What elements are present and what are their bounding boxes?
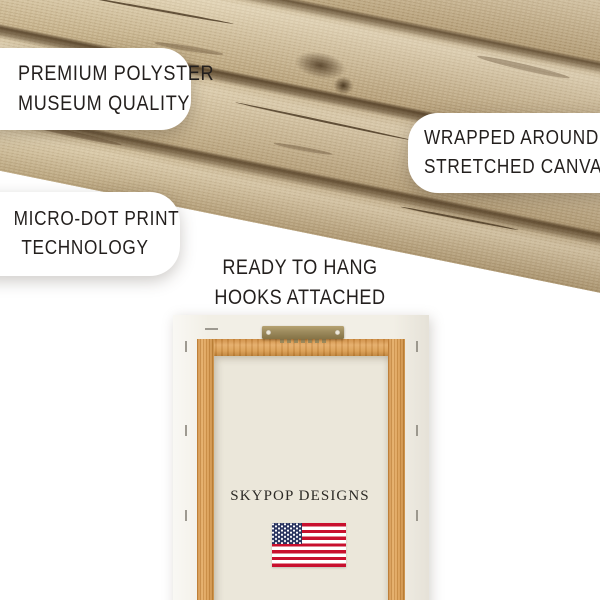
stretcher-bar-left bbox=[197, 339, 214, 600]
wood-vein bbox=[477, 53, 571, 80]
staple bbox=[205, 328, 218, 330]
flag-canton bbox=[272, 523, 302, 544]
badge-wrapped-around: WRAPPED AROUND STRETCHED CANVAS bbox=[408, 113, 600, 193]
product-infographic: PREMIUM POLYSTER MUSEUM QUALITY WRAPPED … bbox=[0, 0, 600, 600]
staple bbox=[185, 510, 187, 521]
wood-crack bbox=[86, 0, 234, 25]
usa-flag bbox=[272, 523, 346, 567]
hanger-screw-hole bbox=[266, 330, 271, 335]
badge-premium-polyster: PREMIUM POLYSTER MUSEUM QUALITY bbox=[0, 48, 191, 130]
badge-microdot-line1: MICRO-DOT PRINT bbox=[14, 205, 157, 234]
wood-crack bbox=[400, 206, 518, 231]
badge-premium-line2: MUSEUM QUALITY bbox=[18, 89, 165, 119]
staple bbox=[416, 425, 418, 436]
staple bbox=[416, 510, 418, 521]
stretcher-bar-right bbox=[388, 339, 405, 600]
badge-premium-line1: PREMIUM POLYSTER bbox=[18, 59, 165, 89]
wood-vein bbox=[273, 142, 333, 157]
headline-ready-to-hang: READY TO HANG HOOKS ATTACHED bbox=[0, 253, 600, 313]
staple bbox=[185, 341, 187, 352]
sawtooth-hanger bbox=[262, 326, 344, 339]
wood-crack bbox=[235, 101, 411, 141]
staple bbox=[185, 425, 187, 436]
flag-stars bbox=[272, 523, 302, 544]
brand-name: SKYPOP DESIGNS bbox=[0, 488, 600, 505]
hanger-screw-hole bbox=[335, 330, 340, 335]
hanger-plate bbox=[262, 326, 344, 339]
staple bbox=[416, 341, 418, 352]
badge-wrapped-line2: STRETCHED CANVAS bbox=[424, 153, 582, 182]
ready-line1: READY TO HANG bbox=[42, 253, 558, 283]
ready-line2: HOOKS ATTACHED bbox=[42, 283, 558, 313]
badge-wrapped-line1: WRAPPED AROUND bbox=[424, 124, 582, 153]
